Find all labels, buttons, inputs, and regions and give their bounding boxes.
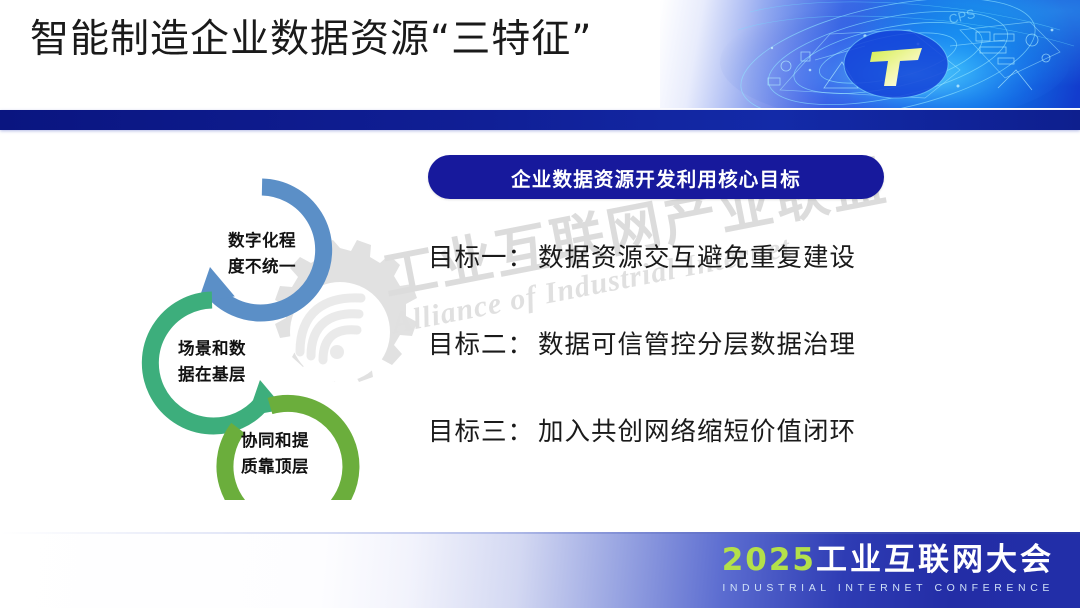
footer-top-divider (0, 532, 1080, 534)
ring-label-3-line1: 协同和提 (215, 428, 335, 454)
goal-item-2: 目标二：数据可信管控分层数据治理 (428, 324, 898, 361)
goal-item-2-text: 数据可信管控分层数据治理 (538, 330, 856, 360)
goal-item-3-tag: 目标三： (428, 417, 534, 447)
ring-label-3-line2: 质靠顶层 (215, 454, 335, 480)
slide-footer: 2025工业互联网大会 INDUSTRIAL INTERNET CONFEREN… (0, 532, 1080, 608)
tech-circuit-globe-icon: CPS (660, 0, 1080, 108)
conference-logo-subtitle: INDUSTRIAL INTERNET CONFERENCE (722, 582, 1054, 594)
ring-label-1-line1: 数字化程 (202, 228, 322, 254)
goal-item-1-tag: 目标一： (428, 243, 534, 273)
goal-item-1-text: 数据资源交互避免重复建设 (538, 243, 856, 273)
goal-item-3: 目标三：加入共创网络缩短价值闭环 (428, 411, 898, 448)
ring-label-2-line1: 场景和数 (152, 336, 272, 362)
slide-body: 工业互联网产业联盟 Alliance of Industrial Interne… (0, 130, 1080, 530)
header-decorative-graphic: CPS (660, 0, 1080, 108)
ring-label-1: 数字化程 度不统一 (202, 228, 322, 279)
goal-item-2-tag: 目标二： (428, 330, 534, 360)
ring-label-2: 场景和数 据在基层 (152, 336, 272, 387)
slide-canvas: CPS 智能制造企业数据资源“三特征” 工业互联网产业联盟 (0, 0, 1080, 608)
ring-label-2-line2: 据在基层 (152, 362, 272, 388)
ring-label-1-line2: 度不统一 (202, 254, 322, 280)
conference-logo-cn: 工业互联网大会 (816, 542, 1054, 578)
conference-logo-main: 2025工业互联网大会 (722, 544, 1054, 577)
conference-logo: 2025工业互联网大会 INDUSTRIAL INTERNET CONFEREN… (722, 544, 1054, 594)
goals-panel: 企业数据资源开发利用核心目标 目标一：数据资源交互避免重复建设 目标二：数据可信… (428, 155, 898, 448)
three-rings-diagram: 数字化程 度不统一 场景和数 据在基层 协同和提 质靠顶层 (120, 160, 420, 500)
slide-header: CPS 智能制造企业数据资源“三特征” (0, 0, 1080, 108)
conference-logo-year: 2025 (722, 542, 816, 578)
header-divider-bar (0, 110, 1080, 130)
goals-list: 目标一：数据资源交互避免重复建设 目标二：数据可信管控分层数据治理 目标三：加入… (428, 237, 898, 448)
goal-item-1: 目标一：数据资源交互避免重复建设 (428, 237, 898, 274)
page-title: 智能制造企业数据资源“三特征” (30, 16, 592, 65)
panel-header-title: 企业数据资源开发利用核心目标 (428, 155, 884, 199)
goal-item-3-text: 加入共创网络缩短价值闭环 (538, 417, 856, 447)
ring-label-3: 协同和提 质靠顶层 (215, 428, 335, 479)
